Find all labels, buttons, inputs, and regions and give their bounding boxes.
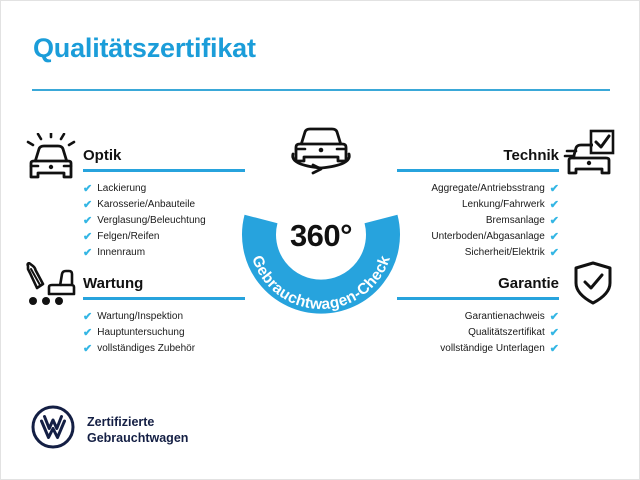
section-garantie-list: Garantienachweis✔ Qualitätszertifikat✔ v…: [397, 309, 559, 357]
section-technik-list: Aggregate/Antriebsstrang✔ Lenkung/Fahrwe…: [397, 181, 559, 261]
section-wartung-head: Wartung: [83, 274, 245, 300]
section-wartung: Wartung ✔Wartung/Inspektion ✔Hauptunters…: [83, 274, 245, 357]
check-icon: ✔: [550, 309, 559, 325]
360-check-badge: Gebrauchtwagen-Check 360°: [229, 119, 413, 315]
check-icon: ✔: [83, 213, 92, 229]
volkswagen-footer-text: Zertifizierte Gebrauchtwagen: [87, 414, 188, 446]
list-item: Garantienachweis✔: [397, 309, 559, 325]
check-icon: ✔: [83, 181, 92, 197]
list-item-label: Sicherheit/Elektrik: [465, 245, 545, 261]
section-garantie-title: Garantie: [397, 274, 559, 294]
check-icon: ✔: [83, 229, 92, 245]
section-optik: Optik ✔Lackierung ✔Karosserie/Anbauteile…: [83, 146, 245, 261]
check-icon: ✔: [83, 325, 92, 341]
section-wartung-divider: [83, 297, 245, 300]
car-checkbox-icon: [563, 129, 615, 184]
section-wartung-title: Wartung: [83, 274, 245, 294]
section-technik: Technik Aggregate/Antriebsstrang✔ Lenkun…: [397, 146, 559, 261]
list-item: ✔Wartung/Inspektion: [83, 309, 245, 325]
list-item-label: Lenkung/Fahrwerk: [462, 197, 545, 213]
list-item: Lenkung/Fahrwerk✔: [397, 197, 559, 213]
footer-line-1: Zertifizierte: [87, 415, 154, 429]
check-icon: ✔: [550, 229, 559, 245]
section-wartung-list: ✔Wartung/Inspektion ✔Hauptuntersuchung ✔…: [83, 309, 245, 357]
list-item: ✔Innenraum: [83, 245, 245, 261]
list-item: Bremsanlage✔: [397, 213, 559, 229]
section-technik-title: Technik: [397, 146, 559, 166]
check-icon: ✔: [550, 197, 559, 213]
list-item: Aggregate/Antriebsstrang✔: [397, 181, 559, 197]
list-item-label: Bremsanlage: [486, 213, 545, 229]
check-icon: ✔: [83, 341, 92, 357]
page-title: Qualitätszertifikat: [33, 33, 256, 64]
volkswagen-logo: [31, 405, 75, 454]
list-item-label: Innenraum: [97, 245, 145, 261]
list-item: ✔Verglasung/Beleuchtung: [83, 213, 245, 229]
car-shine-icon: [25, 133, 77, 186]
list-item: ✔vollständiges Zubehör: [83, 341, 245, 357]
badge-degrees-label: 360°: [229, 218, 413, 254]
list-item-label: Felgen/Reifen: [97, 229, 159, 245]
check-icon: ✔: [83, 197, 92, 213]
list-item-label: Qualitätszertifikat: [468, 325, 545, 341]
section-optik-divider: [83, 169, 245, 172]
section-technik-divider: [397, 169, 559, 172]
shield-check-icon: [571, 260, 615, 311]
list-item: ✔Karosserie/Anbauteile: [83, 197, 245, 213]
list-item: ✔Lackierung: [83, 181, 245, 197]
list-item: ✔Felgen/Reifen: [83, 229, 245, 245]
list-item-label: Karosserie/Anbauteile: [97, 197, 195, 213]
section-garantie: Garantie Garantienachweis✔ Qualitätszert…: [397, 274, 559, 357]
section-garantie-divider: [397, 297, 559, 300]
list-item: Sicherheit/Elektrik✔: [397, 245, 559, 261]
check-icon: ✔: [550, 325, 559, 341]
list-item-label: Wartung/Inspektion: [97, 309, 183, 325]
check-icon: ✔: [550, 245, 559, 261]
list-item: Qualitätszertifikat✔: [397, 325, 559, 341]
list-item-label: Aggregate/Antriebsstrang: [431, 181, 544, 197]
section-optik-head: Optik: [83, 146, 245, 172]
list-item: ✔Hauptuntersuchung: [83, 325, 245, 341]
volkswagen-footer: Zertifizierte Gebrauchtwagen: [31, 405, 188, 454]
list-item-label: vollständige Unterlagen: [440, 341, 545, 357]
list-item-label: Hauptuntersuchung: [97, 325, 184, 341]
list-item: Unterboden/Abgasanlage✔: [397, 229, 559, 245]
check-icon: ✔: [550, 341, 559, 357]
list-item-label: vollständiges Zubehör: [97, 341, 195, 357]
list-item-label: Garantienachweis: [465, 309, 545, 325]
check-icon: ✔: [83, 245, 92, 261]
check-icon: ✔: [83, 309, 92, 325]
certificate-page: Qualitätszertifikat Optik ✔Lackierung ✔K: [0, 0, 640, 480]
list-item-label: Lackierung: [97, 181, 146, 197]
footer-line-2: Gebrauchtwagen: [87, 431, 188, 445]
section-optik-list: ✔Lackierung ✔Karosserie/Anbauteile ✔Verg…: [83, 181, 245, 261]
header-divider: [32, 89, 610, 91]
list-item-label: Verglasung/Beleuchtung: [97, 213, 205, 229]
section-technik-head: Technik: [397, 146, 559, 172]
section-garantie-head: Garantie: [397, 274, 559, 300]
list-item-label: Unterboden/Abgasanlage: [431, 229, 544, 245]
section-optik-title: Optik: [83, 146, 245, 166]
wrench-car-icon: [25, 262, 77, 313]
check-icon: ✔: [550, 213, 559, 229]
list-item: vollständige Unterlagen✔: [397, 341, 559, 357]
check-icon: ✔: [550, 181, 559, 197]
